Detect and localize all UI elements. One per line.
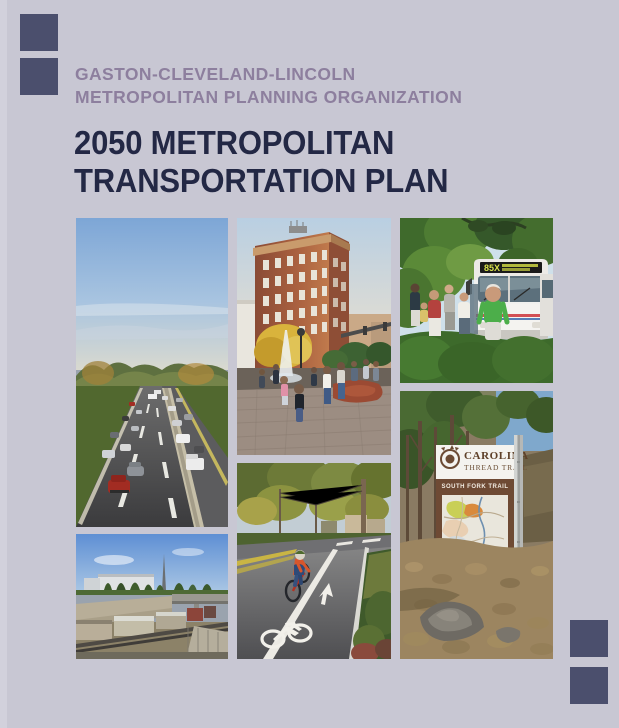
title-line-2: TRANSPORTATION PLAN (74, 162, 544, 200)
photo-bicycle-facility (237, 463, 391, 659)
top-left-square-lower (20, 58, 58, 95)
photo-downtown-streetscape (237, 218, 391, 455)
photo-greenway-trail: CAROLINA THREAD TRAIL SOUTH FORK TRAIL (400, 391, 553, 659)
top-left-square-upper (20, 14, 58, 51)
bottom-right-square-lower (570, 667, 608, 704)
left-edge-strip (0, 0, 7, 728)
page-title: 2050 METROPOLITAN TRANSPORTATION PLAN (74, 124, 544, 200)
photo-public-transit: 85X (400, 218, 553, 383)
svg-text:SOUTH FORK TRAIL: SOUTH FORK TRAIL (442, 484, 509, 490)
bottom-right-square-upper (570, 620, 608, 657)
organization-name: GASTON-CLEVELAND-LINCOLN METROPOLITAN PL… (75, 63, 545, 109)
photo-collage: 85X (76, 218, 553, 659)
title-line-1: 2050 METROPOLITAN (74, 124, 544, 162)
organization-line-1: GASTON-CLEVELAND-LINCOLN (75, 63, 545, 86)
report-cover: GASTON-CLEVELAND-LINCOLN METROPOLITAN PL… (0, 0, 619, 728)
svg-text:85X: 85X (484, 263, 500, 273)
organization-line-2: METROPOLITAN PLANNING ORGANIZATION (75, 86, 545, 109)
photo-freight-rail (76, 534, 228, 659)
photo-highway-traffic (76, 218, 228, 527)
